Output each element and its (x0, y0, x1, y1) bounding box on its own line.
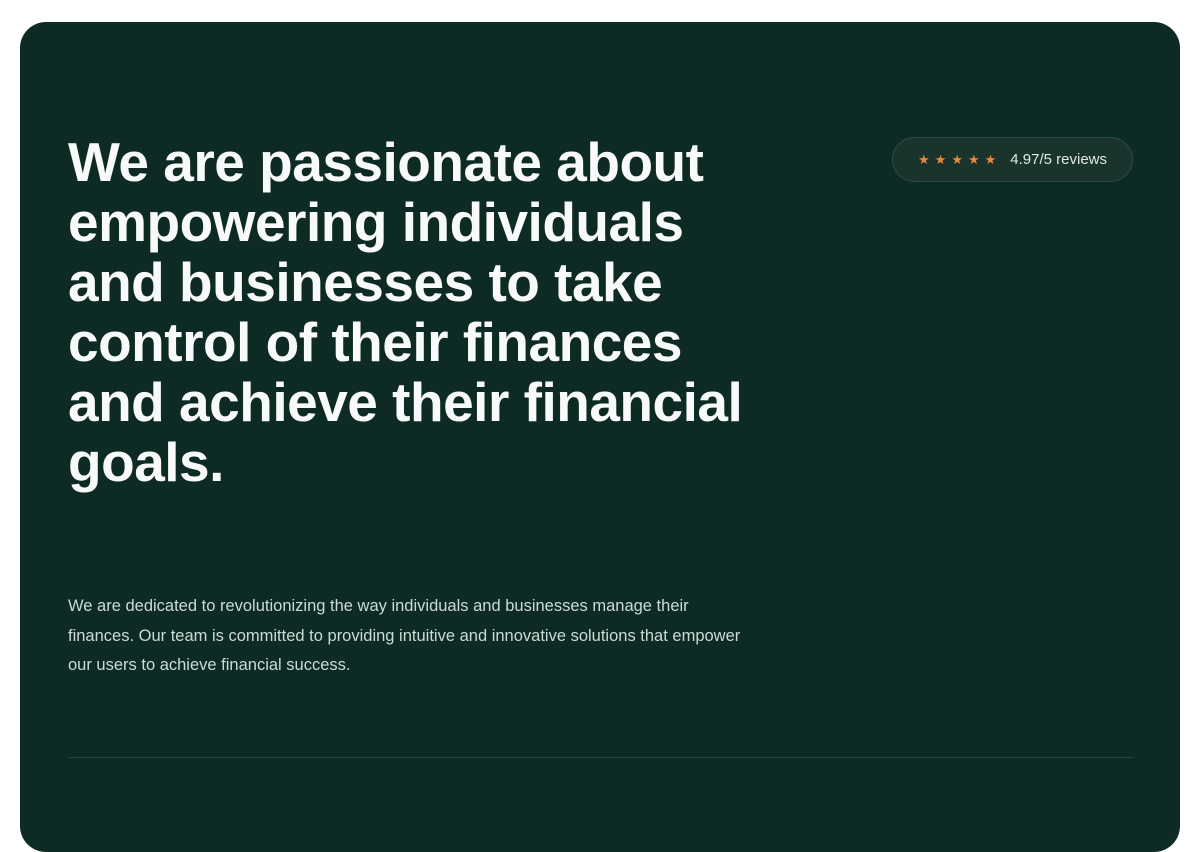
star-icon: ★ (951, 153, 963, 166)
hero-panel: We are passionate about empowering indiv… (20, 22, 1180, 852)
rating-badge[interactable]: ★ ★ ★ ★ ★ 4.97/5 reviews (892, 137, 1133, 182)
star-icon: ★ (985, 153, 997, 166)
rating-label: 4.97/5 reviews (1010, 152, 1107, 167)
star-icon: ★ (918, 153, 930, 166)
star-rating: ★ ★ ★ ★ ★ (918, 153, 996, 166)
page-title: We are passionate about empowering indiv… (68, 132, 768, 492)
star-icon: ★ (968, 153, 980, 166)
section-divider (68, 757, 1133, 758)
hero-description: We are dedicated to revolutionizing the … (68, 592, 758, 681)
star-icon: ★ (935, 153, 947, 166)
